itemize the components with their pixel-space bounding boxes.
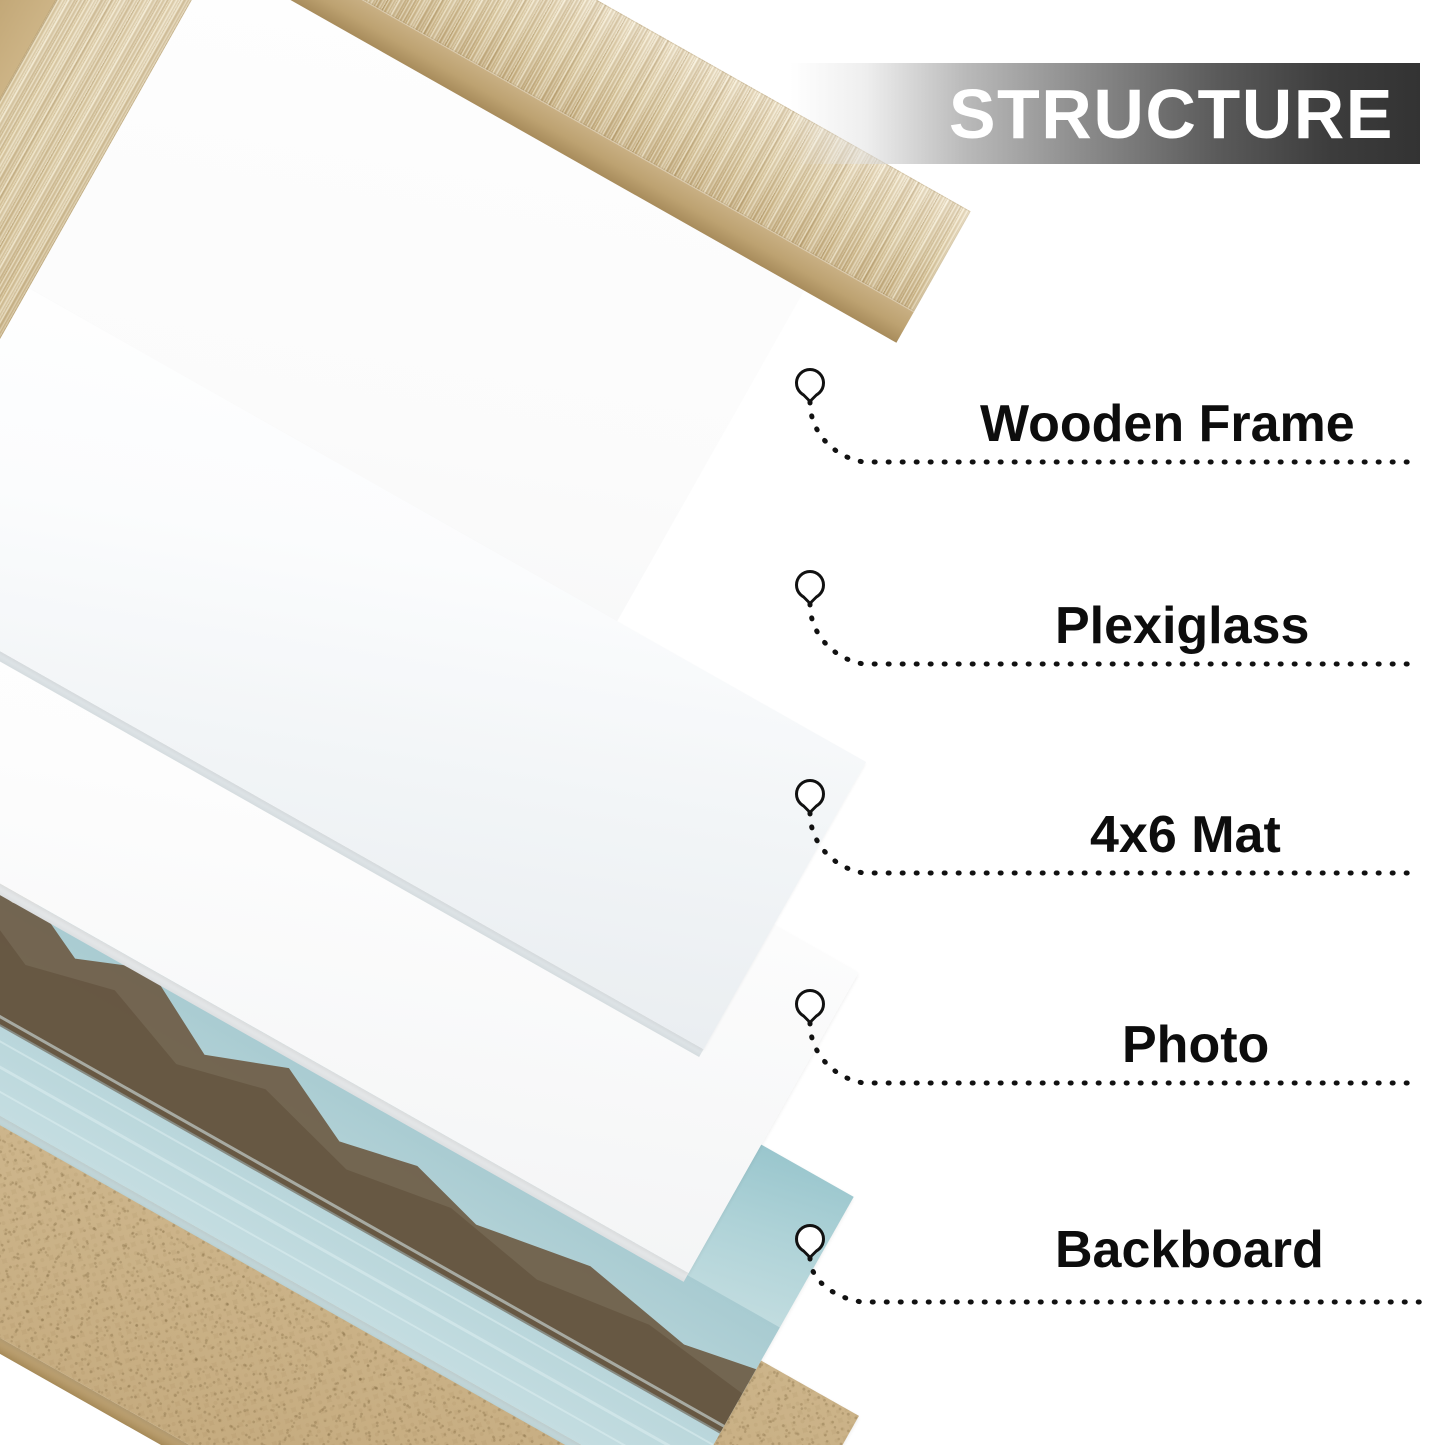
- frame-left-rail: [0, 0, 290, 488]
- structure-banner: STRUCTURE: [790, 63, 1420, 164]
- exploded-frame-artwork: [0, 0, 1010, 1445]
- callout-label-backboard: Backboard: [1055, 1224, 1324, 1276]
- callout-label-photo: Photo: [1122, 1019, 1269, 1071]
- infographic-canvas: STRUCTURE Wooden Frame Plexiglass 4x6 Ma…: [0, 0, 1445, 1445]
- callout-label-plexiglass: Plexiglass: [1055, 600, 1309, 652]
- banner-title: STRUCTURE: [949, 79, 1394, 149]
- callout-label-mat: 4x6 Mat: [1090, 809, 1281, 861]
